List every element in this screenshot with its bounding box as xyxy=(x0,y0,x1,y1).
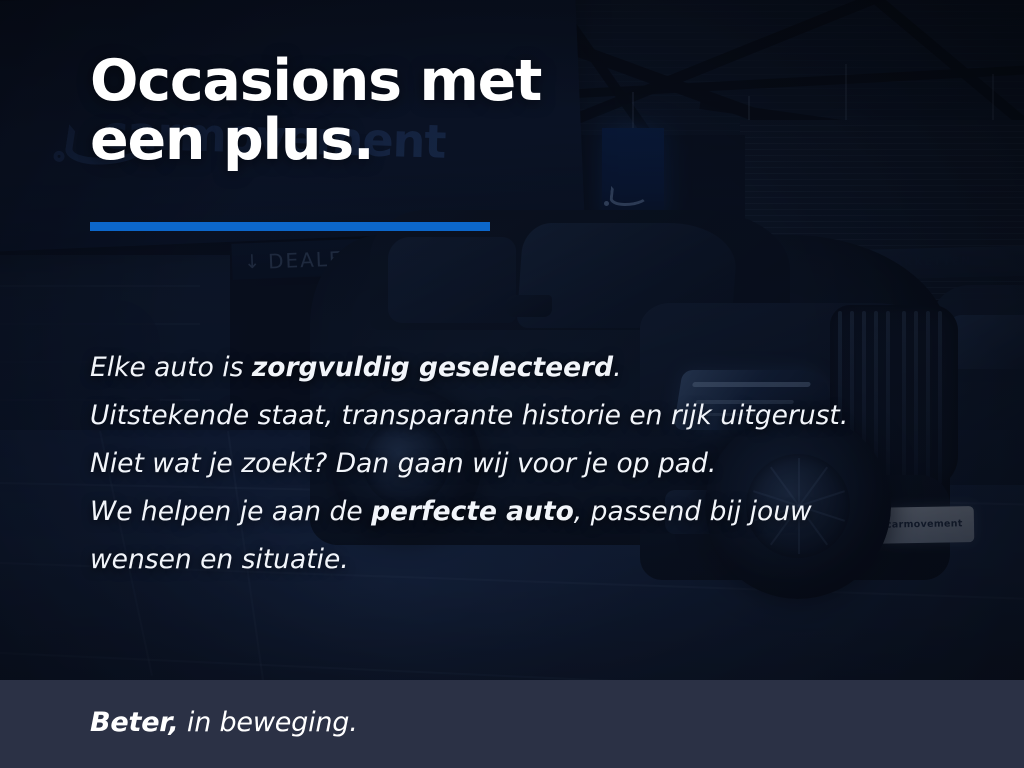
headline: Occasions met een plus. xyxy=(90,52,710,169)
body-line-4-bold: perfecte auto xyxy=(371,496,574,527)
body-line-1-pre: Elke auto is xyxy=(90,352,252,383)
body-line-1-post: . xyxy=(613,352,621,383)
blue-accent-bar xyxy=(90,222,490,231)
slide-content: Occasions met een plus. Elke auto is zor… xyxy=(0,0,1024,768)
body-copy: Elke auto is zorgvuldig geselecteerd. Ui… xyxy=(90,344,920,584)
body-line-3: Niet wat je zoekt? Dan gaan wij voor je … xyxy=(90,440,920,488)
body-line-4-post: , passend bij jouw xyxy=(574,496,812,527)
body-line-1: Elke auto is zorgvuldig geselecteerd. xyxy=(90,344,920,392)
body-line-1-bold: zorgvuldig geselecteerd xyxy=(252,352,613,383)
body-line-3-pre: Niet wat je zoekt? Dan gaan wij voor je … xyxy=(90,448,716,479)
body-line-5: wensen en situatie. xyxy=(90,536,920,584)
footer-tagline: Beter, in beweging. xyxy=(90,707,358,738)
promo-slide: carmovement ↓ DEALERO AFLEVERPAKKETTEN. … xyxy=(0,0,1024,768)
body-line-4: We helpen je aan de perfecte auto, passe… xyxy=(90,488,920,536)
body-line-2: Uitstekende staat, transparante historie… xyxy=(90,392,920,440)
body-line-5-pre: wensen en situatie. xyxy=(90,544,349,575)
footer-tagline-bold: Beter, xyxy=(90,707,179,738)
body-line-2-pre: Uitstekende staat, transparante historie… xyxy=(90,400,848,431)
body-line-4-pre: We helpen je aan de xyxy=(90,496,371,527)
footer-tagline-rest: in beweging. xyxy=(179,707,358,738)
footer-bar: Beter, in beweging. xyxy=(0,680,1024,768)
